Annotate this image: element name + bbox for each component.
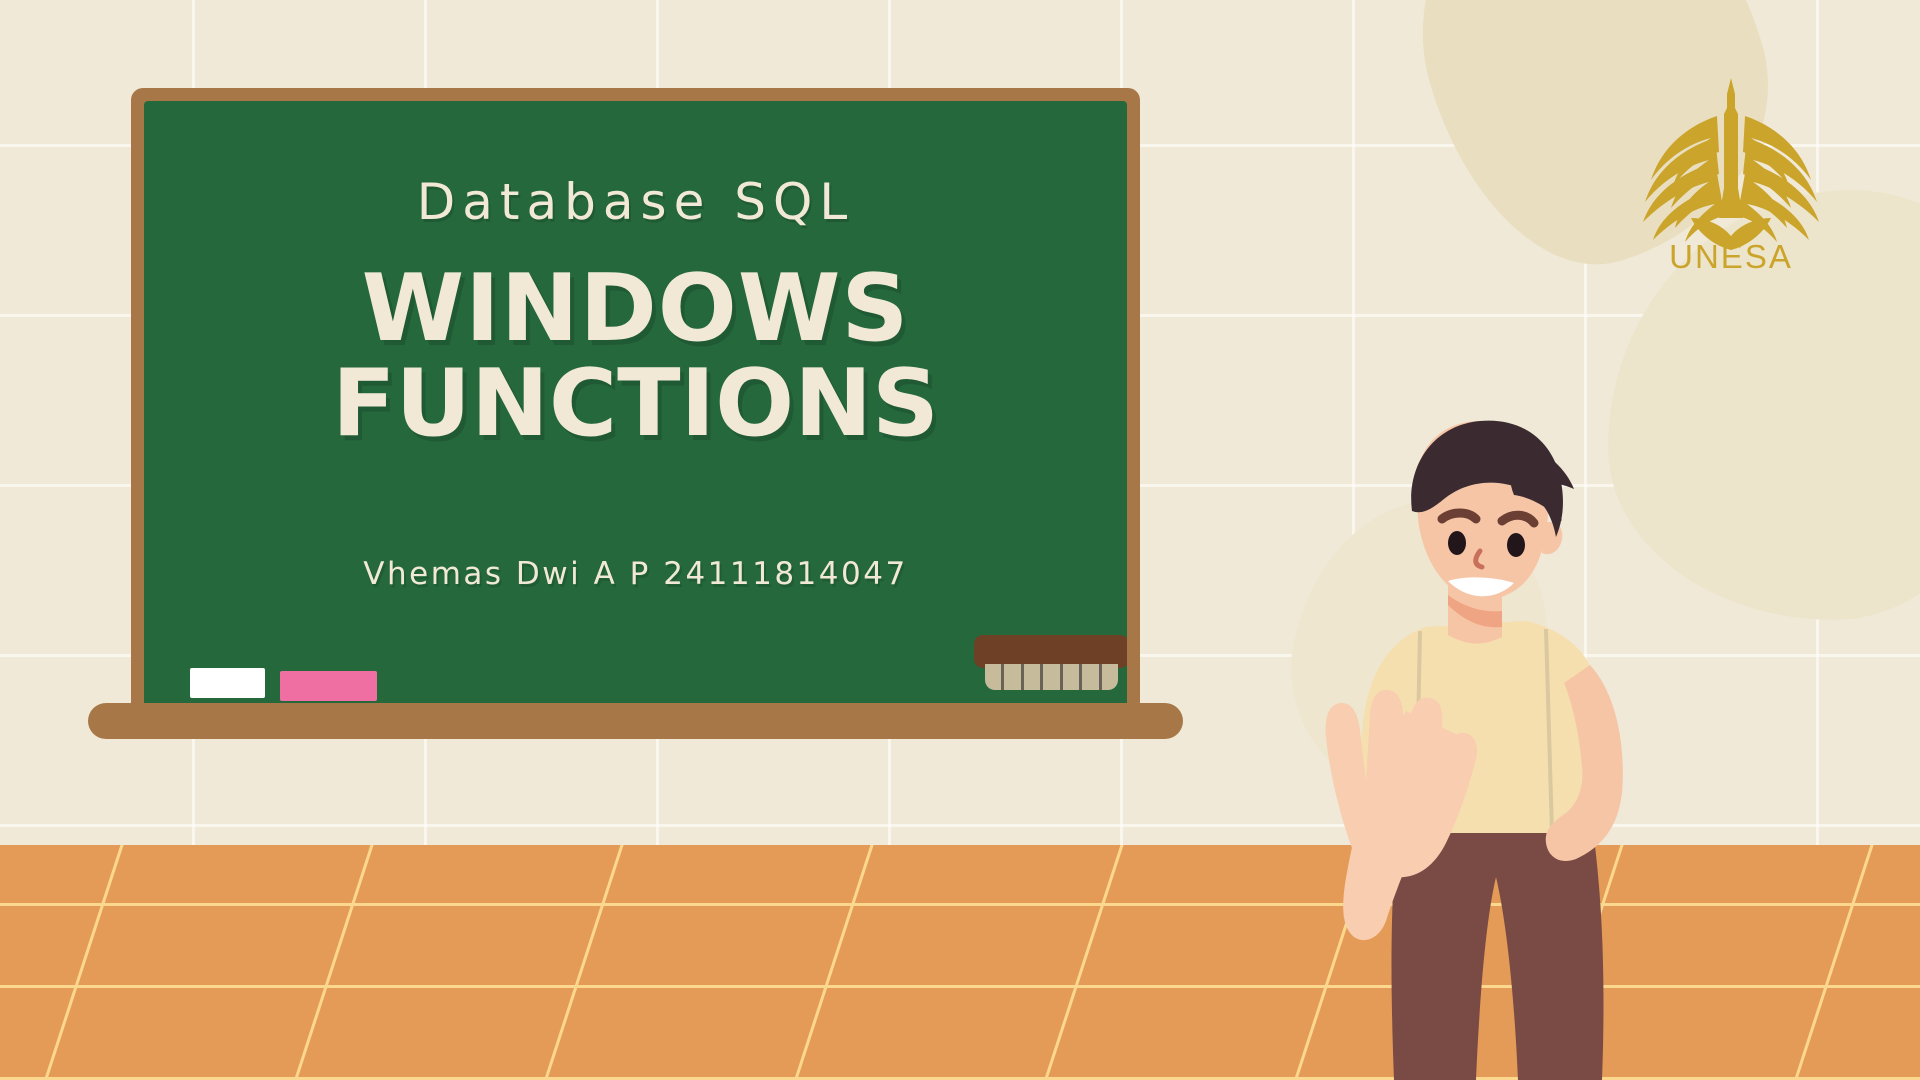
chalkboard-ledge	[88, 703, 1183, 739]
author-credit: Vhemas Dwi A P 24111814047	[144, 556, 1127, 592]
title-line-1: WINDOWS	[144, 261, 1127, 356]
eraser-felt	[985, 664, 1118, 690]
student-illustration	[1230, 415, 1710, 1080]
title-line-2: FUNCTIONS	[144, 356, 1127, 451]
chalkboard-surface: Database SQL WINDOWS FUNCTIONS Vhemas Dw…	[144, 101, 1127, 713]
white-chalk	[190, 668, 265, 698]
title-slide: Database SQL WINDOWS FUNCTIONS Vhemas Dw…	[0, 0, 1920, 1080]
slide-subtitle: Database SQL	[144, 173, 1127, 231]
pink-chalk	[280, 671, 377, 701]
unesa-logo-icon	[1631, 68, 1831, 258]
board-eraser	[974, 635, 1127, 681]
page-title: WINDOWS FUNCTIONS	[144, 261, 1127, 451]
chalkboard-frame: Database SQL WINDOWS FUNCTIONS Vhemas Dw…	[131, 88, 1140, 726]
chalkboard-text-block: Database SQL WINDOWS FUNCTIONS Vhemas Dw…	[144, 101, 1127, 713]
unesa-logo-label: UNESA	[1631, 238, 1831, 276]
